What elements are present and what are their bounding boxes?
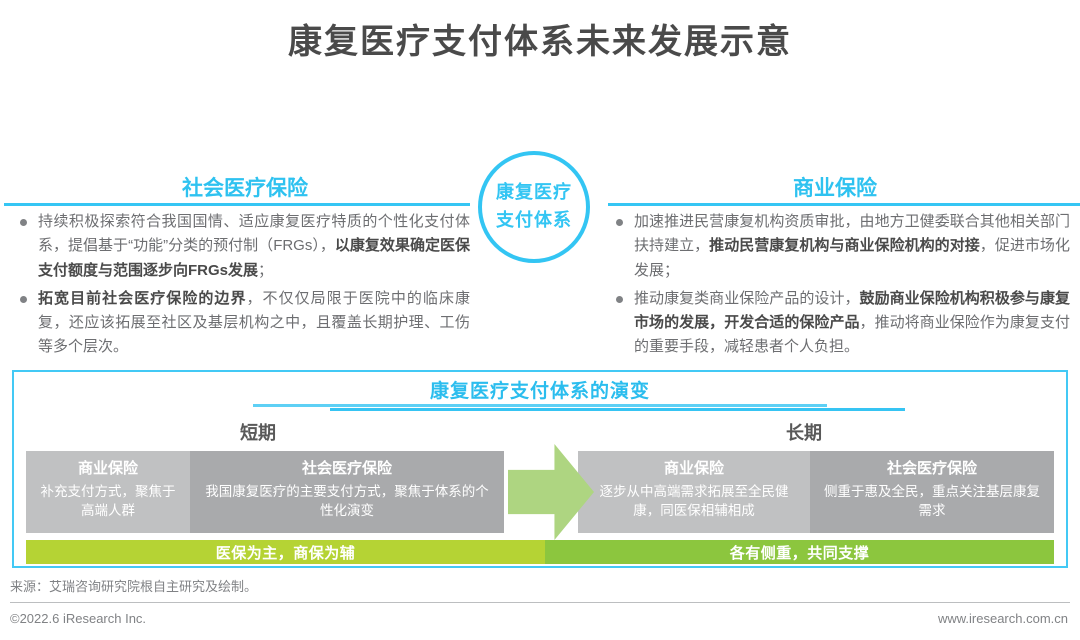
panel-underline-lower <box>330 408 905 411</box>
box-body: 补充支付方式，聚焦于高端人群 <box>36 482 180 520</box>
bullet-emphasis: 拓宽目前社会医疗保险的边界 <box>38 290 247 307</box>
long-term-label: 长期 <box>786 419 822 445</box>
box-body: 我国康复医疗的主要支付方式，聚焦于体系的个性化演变 <box>200 482 494 520</box>
copyright-text: ©2022.6 iResearch Inc. <box>10 611 146 626</box>
right-bullets: 加速推进民营康复机构资质审批，由地方卫健委联合其他相关部门扶持建立，推动民营康复… <box>614 210 1070 360</box>
page-title: 康复医疗支付体系未来发展示意 <box>0 14 1080 63</box>
short-term-label: 短期 <box>240 419 276 445</box>
bullet-item: 加速推进民营康复机构资质审批，由地方卫健委联合其他相关部门扶持建立，推动民营康复… <box>614 210 1070 283</box>
center-circle-line1: 康复医疗 <box>496 179 572 207</box>
left-bullet-list: 持续积极探索符合我国国情、适应康复医疗特质的个性化支付体系，提倡基于“功能”分类… <box>18 210 470 364</box>
left-bullets: 持续积极探索符合我国国情、适应康复医疗特质的个性化支付体系，提倡基于“功能”分类… <box>18 210 470 360</box>
long-term-box-social: 社会医疗保险 侧重于惠及全民，重点关注基层康复需求 <box>810 451 1054 533</box>
center-circle: 康复医疗 支付体系 <box>478 151 590 263</box>
short-term-box-social: 社会医疗保险 我国康复医疗的主要支付方式，聚焦于体系的个性化演变 <box>190 451 504 533</box>
footer-divider <box>10 602 1070 603</box>
box-title: 商业保险 <box>36 458 180 479</box>
right-bullet-list: 加速推进民营康复机构资质审批，由地方卫健委联合其他相关部门扶持建立，推动民营康复… <box>614 210 1070 364</box>
bullet-text: 推动康复类商业保险产品的设计， <box>634 290 860 307</box>
long-term-box-commercial: 商业保险 逐步从中高端需求拓展至全民健康，同医保相辅相成 <box>578 451 810 533</box>
right-heading-rule <box>608 203 1080 206</box>
panel-underline-upper <box>253 404 827 407</box>
box-title: 商业保险 <box>588 458 800 479</box>
bullet-emphasis: 推动民营康复机构与商业保险机构的对接 <box>709 237 980 254</box>
evolution-panel-title: 康复医疗支付体系的演变 <box>0 376 1080 403</box>
short-term-summary-bar: 医保为主，商保为辅 <box>26 540 545 564</box>
left-column-heading: 社会医疗保险 <box>60 172 430 202</box>
bullet-item: 推动康复类商业保险产品的设计，鼓励商业保险机构积极参与康复市场的发展，开发合适的… <box>614 287 1070 360</box>
right-column-heading: 商业保险 <box>650 172 1020 202</box>
short-term-box-commercial: 商业保险 补充支付方式，聚焦于高端人群 <box>26 451 190 533</box>
box-body: 侧重于惠及全民，重点关注基层康复需求 <box>820 482 1044 520</box>
box-title: 社会医疗保险 <box>820 458 1044 479</box>
long-term-summary-bar: 各有侧重，共同支撑 <box>545 540 1054 564</box>
left-edge-mask <box>0 0 4 640</box>
bullet-item: 拓宽目前社会医疗保险的边界，不仅仅局限于医院中的临床康复，还应该拓展至社区及基层… <box>18 287 470 360</box>
website-url: www.iresearch.com.cn <box>938 611 1068 626</box>
box-title: 社会医疗保险 <box>200 458 494 479</box>
bullet-item: 持续积极探索符合我国国情、适应康复医疗特质的个性化支付体系，提倡基于“功能”分类… <box>18 210 470 283</box>
source-note: 来源：艾瑞咨询研究院根自主研究及绘制。 <box>10 576 257 595</box>
left-heading-rule <box>0 203 470 206</box>
center-circle-line2: 支付体系 <box>496 207 572 235</box>
box-body: 逐步从中高端需求拓展至全民健康，同医保相辅相成 <box>588 482 800 520</box>
bullet-text: ； <box>258 262 273 279</box>
infographic-canvas: 康复医疗支付体系未来发展示意 社会医疗保险 商业保险 康复医疗 支付体系 持续积… <box>0 0 1080 640</box>
